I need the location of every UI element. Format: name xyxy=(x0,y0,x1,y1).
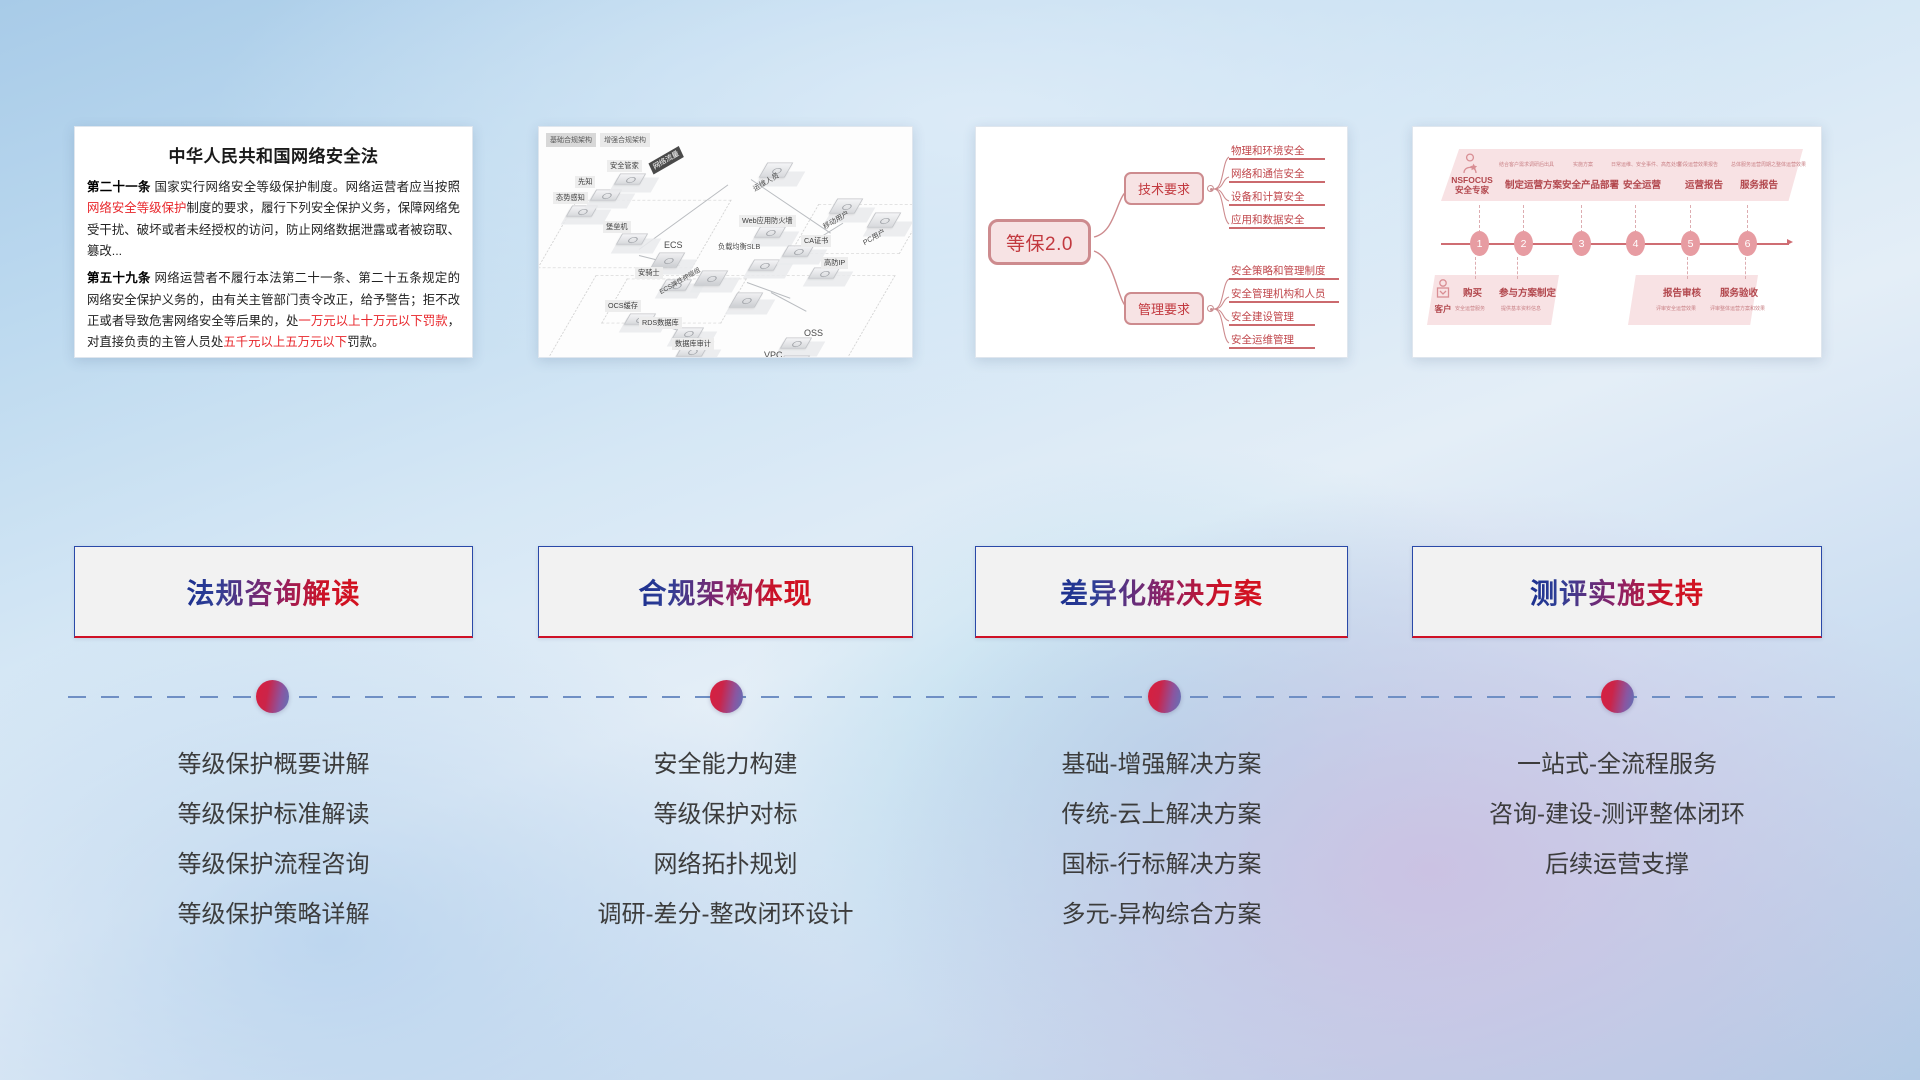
customer-icon xyxy=(1435,279,1451,301)
timeline-connector xyxy=(1475,257,1476,279)
role-line-1: NSFOCUS xyxy=(1451,175,1493,185)
timeline-step-node-1[interactable]: 1 xyxy=(1470,231,1489,256)
label-rds-db: RDS数据库 xyxy=(639,317,682,329)
mindmap-leaf[interactable]: 安全策略和管理制度 xyxy=(1229,265,1339,280)
timeline-marker-3[interactable] xyxy=(1148,680,1181,713)
mindmap-leaf-label: 安全建设管理 xyxy=(1229,311,1315,324)
mindmap-leaf-label: 安全运维管理 xyxy=(1229,334,1315,347)
timeline-connector xyxy=(1479,205,1480,233)
timeline-step-node-6[interactable]: 6 xyxy=(1738,231,1757,256)
law-paragraph-59: 第五十九条 网络运营者不履行本法第二十一条、第二十五条规定的网络安全保护义务的，… xyxy=(87,268,460,353)
label-ca-cert: CA证书 xyxy=(801,235,831,247)
detail-columns: 等级保护概要讲解 等级保护标准解读 等级保护流程咨询 等级保护策略详解 安全能力… xyxy=(0,740,1920,970)
detail-column-regulation-consulting: 等级保护概要讲解 等级保护标准解读 等级保护流程咨询 等级保护策略详解 xyxy=(74,740,473,940)
list-item: 基础-增强解决方案 xyxy=(975,740,1348,790)
timeline-dashed-line xyxy=(68,696,1850,698)
law-highlight: 一万元以上十万元以下罚款 xyxy=(298,314,447,328)
label-anqishi: 安骑士 xyxy=(635,267,663,279)
heading-label: 合规架构体现 xyxy=(638,572,812,612)
timeline-top-sub-4: 阶段运营效果报告 xyxy=(1678,161,1718,168)
list-item: 等级保护流程咨询 xyxy=(74,840,473,890)
timeline-top-title-2: 安全产品部署 xyxy=(1562,177,1619,191)
label-security-butler: 安全管家 xyxy=(607,160,642,172)
label-waf: Web应用防火墙 xyxy=(739,215,796,227)
mindmap-leaf[interactable]: 安全运维管理 xyxy=(1229,334,1315,349)
mindmap-branch-management[interactable]: 管理要求 xyxy=(1124,292,1204,325)
mindmap-leaf-label: 网络和通信安全 xyxy=(1229,168,1325,181)
law-highlight: 五千元以上五万元以下 xyxy=(223,335,347,349)
timeline-connector xyxy=(1635,205,1636,233)
mindmap-leaf-label: 物理和环境安全 xyxy=(1229,145,1325,158)
timeline-bottom-title-3: 报告审核 xyxy=(1663,285,1701,299)
timeline-top-title-5: 服务报告 xyxy=(1740,177,1778,191)
service-timeline: NSFOCUS 安全专家 客户 结合客户需求调研后出具 制定运营方案 实施方案 … xyxy=(1413,127,1821,357)
mindmap-leaf[interactable]: 物理和环境安全 xyxy=(1229,145,1325,160)
label-xianzhi: 先知 xyxy=(575,176,595,188)
timeline-role-customer: 客户 xyxy=(1429,303,1457,315)
label-network-traffic: 网络流量 xyxy=(648,146,683,174)
mindmap-leaf[interactable]: 设备和计算安全 xyxy=(1229,191,1325,206)
timeline-band-bottom-right xyxy=(1628,275,1758,325)
security-expert-icon xyxy=(1461,153,1479,175)
timeline-connector xyxy=(1690,205,1691,233)
label-situational-awareness: 态势感知 xyxy=(553,192,588,204)
list-item: 咨询-建设-测评整体闭环 xyxy=(1412,790,1822,840)
heading-box-regulation-consulting[interactable]: 法规咨询解读 xyxy=(74,546,473,638)
detail-column-evaluation-support: 一站式-全流程服务 咨询-建设-测评整体闭环 后续运营支撑 xyxy=(1412,740,1822,890)
list-item: 等级保护对标 xyxy=(538,790,913,840)
list-item: 后续运营支撑 xyxy=(1412,840,1822,890)
timeline-connector xyxy=(1581,205,1582,233)
timeline-step-node-5[interactable]: 5 xyxy=(1681,231,1700,256)
detail-column-differentiated-solutions: 基础-增强解决方案 传统-云上解决方案 国标-行标解决方案 多元-异构综合方案 xyxy=(975,740,1348,940)
list-item: 多元-异构综合方案 xyxy=(975,890,1348,940)
label-ecs: ECS xyxy=(661,239,686,251)
timeline-axis xyxy=(1441,243,1789,245)
card-cloud-architecture[interactable]: 基础合规架构 增强合规架构 态势感知 先知 xyxy=(538,126,913,358)
card-cybersecurity-law[interactable]: 中华人民共和国网络安全法 第二十一条 国家实行网络安全等级保护制度。网络运营者应… xyxy=(74,126,473,358)
label-vpc: VPC xyxy=(761,349,786,358)
timeline-connector xyxy=(1687,257,1688,279)
mindmap-leaf-label: 安全策略和管理制度 xyxy=(1229,265,1339,278)
timeline-role-expert: NSFOCUS 安全专家 xyxy=(1443,175,1501,195)
law-paragraph-21: 第二十一条 国家实行网络安全等级保护制度。网络运营者应当按照网络安全等级保护制度… xyxy=(87,177,460,262)
list-item: 调研-差分-整改闭环设计 xyxy=(538,890,913,940)
law-highlight: 网络安全等级保护 xyxy=(87,201,186,215)
list-item: 传统-云上解决方案 xyxy=(975,790,1348,840)
heading-label: 法规咨询解读 xyxy=(186,572,360,612)
card-mindmap-dengbao[interactable]: 等保2.0 技术要求 管理要求 物理和环境安全 网络和通信安全 设备和计算安全 … xyxy=(975,126,1348,358)
law-title: 中华人民共和国网络安全法 xyxy=(75,142,472,167)
label-db-audit: 数据库审计 xyxy=(672,338,714,350)
timeline-top-title-4: 运营报告 xyxy=(1685,177,1723,191)
label-ocs-cache: OCS缓存 xyxy=(605,300,641,312)
mindmap-branch-technical[interactable]: 技术要求 xyxy=(1124,172,1204,205)
timeline-top-sub-2: 实施方案 xyxy=(1573,161,1593,168)
architecture-tabs: 基础合规架构 增强合规架构 xyxy=(546,133,650,147)
label-oss: OSS xyxy=(801,327,826,339)
timeline-step-node-2[interactable]: 2 xyxy=(1514,231,1533,256)
law-body: 第二十一条 国家实行网络安全等级保护制度。网络运营者应当按照网络安全等级保护制度… xyxy=(75,177,472,354)
timeline-connector xyxy=(1747,205,1748,233)
timeline-bottom-title-4: 服务验收 xyxy=(1720,285,1758,299)
timeline-bottom-sub-2: 提供基本资料信息 xyxy=(1501,305,1541,312)
timeline-top-sub-5: 总体服务运营周期之整体运营效果 xyxy=(1731,161,1806,168)
list-item: 一站式-全流程服务 xyxy=(1412,740,1822,790)
law-text: 罚款。 xyxy=(347,335,384,349)
timeline-bottom-title-2: 参与方案制定 xyxy=(1499,285,1556,299)
label-slb: 负载均衡SLB xyxy=(715,241,763,253)
timeline-marker-1[interactable] xyxy=(256,680,289,713)
tab-basic-compliance[interactable]: 基础合规架构 xyxy=(546,133,596,147)
mindmap-leaf-label: 安全管理机构和人员 xyxy=(1229,288,1339,301)
list-item: 等级保护概要讲解 xyxy=(74,740,473,790)
heading-box-differentiated-solutions[interactable]: 差异化解决方案 xyxy=(975,546,1348,638)
heading-box-compliance-architecture[interactable]: 合规架构体现 xyxy=(538,546,913,638)
list-item: 网络拓扑规划 xyxy=(538,840,913,890)
timeline-marker-4[interactable] xyxy=(1601,680,1634,713)
timeline-bottom-sub-3: 评审安全运营效果 xyxy=(1656,305,1696,312)
timeline-top-title-3: 安全运营 xyxy=(1623,177,1661,191)
timeline-bottom-sub-1: 安全运营服务 xyxy=(1455,305,1485,312)
timeline-connector xyxy=(1745,257,1746,279)
headings-row: 法规咨询解读 合规架构体现 差异化解决方案 测评实施支持 xyxy=(0,546,1920,638)
timeline-top-title-1: 制定运营方案 xyxy=(1505,177,1562,191)
mindmap-leaf[interactable]: 安全建设管理 xyxy=(1229,311,1315,326)
law-article-label: 第五十九条 xyxy=(87,271,151,285)
role-line-2: 安全专家 xyxy=(1455,185,1489,195)
mindmap-leaf[interactable]: 安全管理机构和人员 xyxy=(1229,288,1339,303)
list-item: 安全能力构建 xyxy=(538,740,913,790)
mindmap-collapse-icon[interactable] xyxy=(1207,305,1214,312)
label-anti-ddos: 高防IP xyxy=(821,257,848,269)
heading-label: 测评实施支持 xyxy=(1530,572,1704,612)
detail-column-compliance-architecture: 安全能力构建 等级保护对标 网络拓扑规划 调研-差分-整改闭环设计 xyxy=(538,740,913,940)
label-bastion-host: 堡垒机 xyxy=(603,221,631,233)
tab-enhanced-compliance[interactable]: 增强合规架构 xyxy=(600,133,650,147)
mindmap-root-node[interactable]: 等保2.0 xyxy=(988,219,1091,265)
architecture-diagram: 基础合规架构 增强合规架构 态势感知 先知 xyxy=(539,127,912,357)
list-item: 等级保护策略详解 xyxy=(74,890,473,940)
timeline-arrow-icon xyxy=(1787,239,1793,245)
mindmap-leaf-label: 设备和计算安全 xyxy=(1229,191,1325,204)
list-item: 等级保护标准解读 xyxy=(74,790,473,840)
timeline-connector xyxy=(1517,257,1518,279)
timeline-connector xyxy=(1523,205,1524,233)
law-text: 国家实行网络安全等级保护制度。网络运营者应当按照 xyxy=(151,180,460,194)
mindmap-leaf[interactable]: 网络和通信安全 xyxy=(1229,168,1325,183)
mindmap-leaf-label: 应用和数据安全 xyxy=(1229,214,1325,227)
mindmap-leaf[interactable]: 应用和数据安全 xyxy=(1229,214,1325,229)
card-service-timeline[interactable]: NSFOCUS 安全专家 客户 结合客户需求调研后出具 制定运营方案 实施方案 … xyxy=(1412,126,1822,358)
preview-cards-row: 中华人民共和国网络安全法 第二十一条 国家实行网络安全等级保护制度。网络运营者应… xyxy=(0,126,1920,358)
timeline-top-sub-3: 日常运维、安全事件、高危处理 xyxy=(1611,161,1681,168)
timeline-step-node-3[interactable]: 3 xyxy=(1572,231,1591,256)
timeline-marker-2[interactable] xyxy=(710,680,743,713)
timeline-bottom-sub-4: 评审整体运营方案和效果 xyxy=(1710,305,1765,312)
list-item: 国标-行标解决方案 xyxy=(975,840,1348,890)
mindmap-collapse-icon[interactable] xyxy=(1207,185,1214,192)
heading-box-evaluation-support[interactable]: 测评实施支持 xyxy=(1412,546,1822,638)
timeline-step-node-4[interactable]: 4 xyxy=(1626,231,1645,256)
timeline-top-sub-1: 结合客户需求调研后出具 xyxy=(1499,161,1554,168)
mindmap: 等保2.0 技术要求 管理要求 物理和环境安全 网络和通信安全 设备和计算安全 … xyxy=(976,127,1347,357)
law-article-label: 第二十一条 xyxy=(87,180,151,194)
heading-label: 差异化解决方案 xyxy=(1060,572,1263,612)
timeline-bottom-title-1: 购买 xyxy=(1463,285,1482,299)
